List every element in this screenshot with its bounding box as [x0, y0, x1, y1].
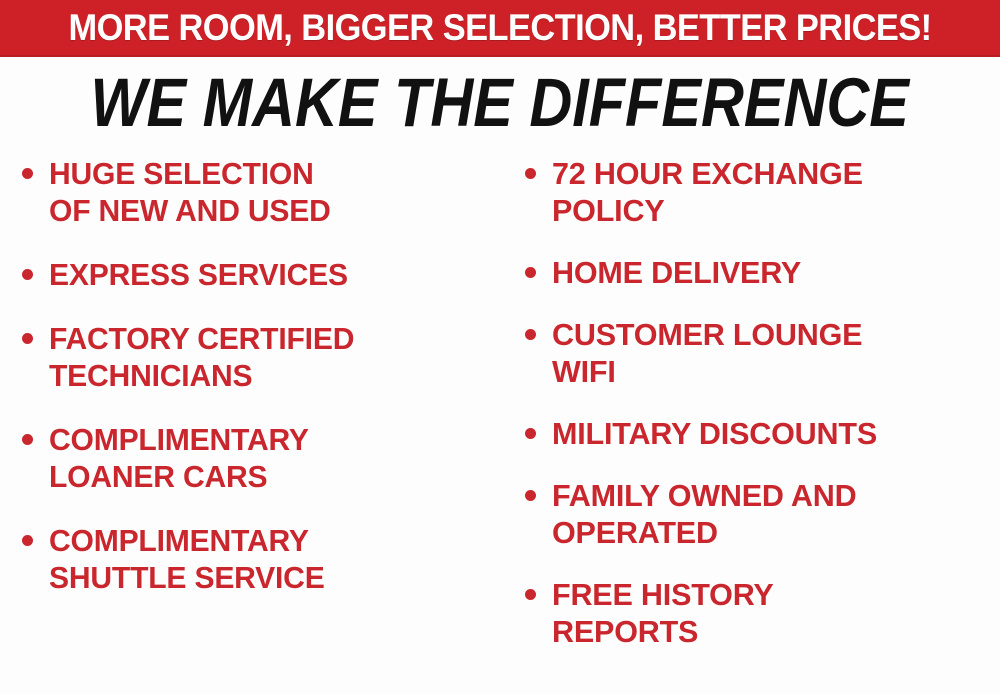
list-item: MILITARY DISCOUNTS [525, 415, 998, 452]
list-item: EXPRESS SERVICES [22, 256, 494, 293]
list-item-label: HOME DELIVERY [552, 254, 991, 291]
bullet-dot-icon [525, 490, 536, 501]
list-item: HOME DELIVERY [525, 254, 998, 291]
bullet-dot-icon [525, 589, 536, 600]
list-item-label: HUGE SELECTION OF NEW AND USED [49, 155, 481, 229]
list-item: FAMILY OWNED AND OPERATED [525, 477, 998, 551]
list-item-label: COMPLIMENTARY LOANER CARS [49, 421, 481, 495]
list-item-label: 72 HOUR EXCHANGE POLICY [552, 155, 991, 229]
list-item-label: CUSTOMER LOUNGE WIFI [552, 316, 991, 390]
list-item-label: FREE HISTORY REPORTS [552, 576, 991, 650]
bullet-dot-icon [22, 333, 33, 344]
bullet-dot-icon [22, 535, 33, 546]
benefits-column-left: HUGE SELECTION OF NEW AND USED EXPRESS S… [0, 155, 500, 694]
list-item: HUGE SELECTION OF NEW AND USED [22, 155, 494, 229]
promotional-poster: MORE ROOM, BIGGER SELECTION, BETTER PRIC… [0, 0, 1000, 694]
banner-headline-text: MORE ROOM, BIGGER SELECTION, BETTER PRIC… [68, 9, 931, 46]
list-item: COMPLIMENTARY SHUTTLE SERVICE [22, 522, 494, 596]
benefits-column-right: 72 HOUR EXCHANGE POLICY HOME DELIVERY CU… [500, 155, 1000, 694]
list-item: CUSTOMER LOUNGE WIFI [525, 316, 998, 390]
list-item-label: FACTORY CERTIFIED TECHNICIANS [49, 320, 481, 394]
bullet-dot-icon [525, 267, 536, 278]
list-item: FACTORY CERTIFIED TECHNICIANS [22, 320, 494, 394]
benefits-columns: HUGE SELECTION OF NEW AND USED EXPRESS S… [0, 155, 1000, 694]
list-item-label: FAMILY OWNED AND OPERATED [552, 477, 991, 551]
headline-container: WE MAKE THE DIFFERENCE [0, 63, 1000, 141]
bullet-dot-icon [525, 428, 536, 439]
list-item: 72 HOUR EXCHANGE POLICY [525, 155, 998, 229]
list-item: FREE HISTORY REPORTS [525, 576, 998, 650]
bullet-dot-icon [22, 434, 33, 445]
bullet-dot-icon [525, 329, 536, 340]
page-title: WE MAKE THE DIFFERENCE [91, 68, 909, 137]
list-item: COMPLIMENTARY LOANER CARS [22, 421, 494, 495]
bullet-dot-icon [525, 168, 536, 179]
list-item-label: COMPLIMENTARY SHUTTLE SERVICE [49, 522, 481, 596]
list-item-label: MILITARY DISCOUNTS [552, 415, 991, 452]
top-banner: MORE ROOM, BIGGER SELECTION, BETTER PRIC… [0, 0, 1000, 57]
bullet-dot-icon [22, 168, 33, 179]
bullet-dot-icon [22, 269, 33, 280]
list-item-label: EXPRESS SERVICES [49, 256, 481, 293]
